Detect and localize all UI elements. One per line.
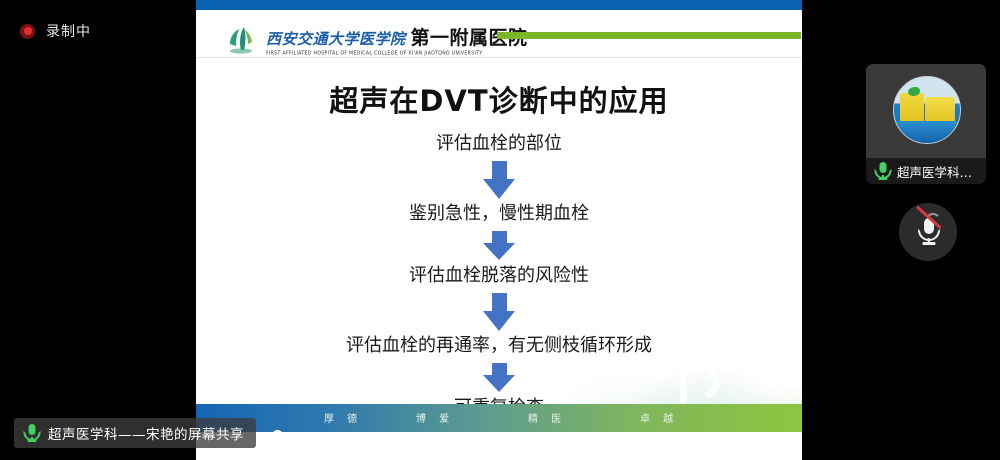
- microphone-icon: [24, 424, 39, 442]
- flow-step-3: 评估血栓脱落的风险性: [196, 264, 802, 288]
- shared-screen-slide[interactable]: 西安交通大学医学院 第一附属医院 FIRST AFFILIATED HOSPIT…: [196, 0, 802, 460]
- flow-diagram: 评估血栓的部位 鉴别急性，慢性期血栓 评估血栓脱落的风险性 评估血栓的再通率，有…: [196, 132, 802, 420]
- footer-slogan-3: 精 医: [528, 410, 566, 425]
- meeting-screen-share-window: 录制中: [0, 0, 1000, 460]
- footer-slogan-4: 卓 越: [640, 410, 678, 425]
- logo-english-name: FIRST AFFILIATED HOSPITAL OF MEDICAL COL…: [266, 51, 528, 57]
- pagination-dot-3[interactable]: [316, 432, 323, 439]
- slide-top-bar: [196, 0, 802, 10]
- slide-pagination-dots[interactable]: [272, 430, 363, 441]
- flow-step-1: 评估血栓的部位: [196, 132, 802, 156]
- footer-slogan-1: 厚 德: [324, 410, 362, 425]
- record-dot-icon: [20, 24, 35, 39]
- hospital-emblem-icon: [224, 22, 258, 56]
- recording-indicator: 录制中: [20, 20, 91, 42]
- user-avatar-image: [893, 76, 961, 144]
- header-divider: [196, 57, 802, 58]
- flow-step-2: 鉴别急性，慢性期血栓: [196, 202, 802, 226]
- screen-share-label: 超声医学科——宋艳的屏幕共享: [48, 423, 244, 443]
- footer-slogan-2: 博 爱: [416, 410, 454, 425]
- participant-tile[interactable]: 超声医学科…: [866, 64, 986, 184]
- flow-arrow-4: [196, 358, 802, 396]
- pagination-dot-4[interactable]: [336, 432, 343, 439]
- down-arrow-icon: [479, 363, 519, 393]
- logo-accent-bar: [497, 32, 801, 39]
- down-arrow-icon: [479, 293, 519, 331]
- slide-title: 超声在DVT诊断中的应用: [196, 78, 802, 120]
- flow-arrow-2: [196, 226, 802, 264]
- participant-name-bar: 超声医学科…: [866, 158, 986, 184]
- slide-body: 西安交通大学医学院 第一附属医院 FIRST AFFILIATED HOSPIT…: [196, 10, 802, 432]
- participant-name: 超声医学科…: [897, 162, 972, 181]
- hospital-logo: 西安交通大学医学院 第一附属医院 FIRST AFFILIATED HOSPIT…: [224, 22, 528, 56]
- flow-step-4: 评估血栓的再通率，有无侧枝循环形成: [196, 334, 802, 358]
- slide-footer: 厚 德 博 爱 精 医 卓 越: [196, 404, 802, 432]
- pagination-dot-2[interactable]: [296, 432, 303, 439]
- flow-arrow-3: [196, 288, 802, 334]
- screen-share-banner: 超声医学科——宋艳的屏幕共享: [14, 418, 256, 448]
- pagination-dot-5[interactable]: [356, 432, 363, 439]
- recording-label: 录制中: [46, 21, 91, 41]
- pagination-dot-1[interactable]: [272, 430, 283, 441]
- microphone-muted-icon[interactable]: [899, 203, 957, 261]
- down-arrow-icon: [479, 161, 519, 199]
- down-arrow-icon: [479, 231, 519, 261]
- flow-arrow-1: [196, 156, 802, 202]
- microphone-icon: [875, 162, 890, 180]
- logo-university-name: 西安交通大学医学院: [266, 28, 406, 49]
